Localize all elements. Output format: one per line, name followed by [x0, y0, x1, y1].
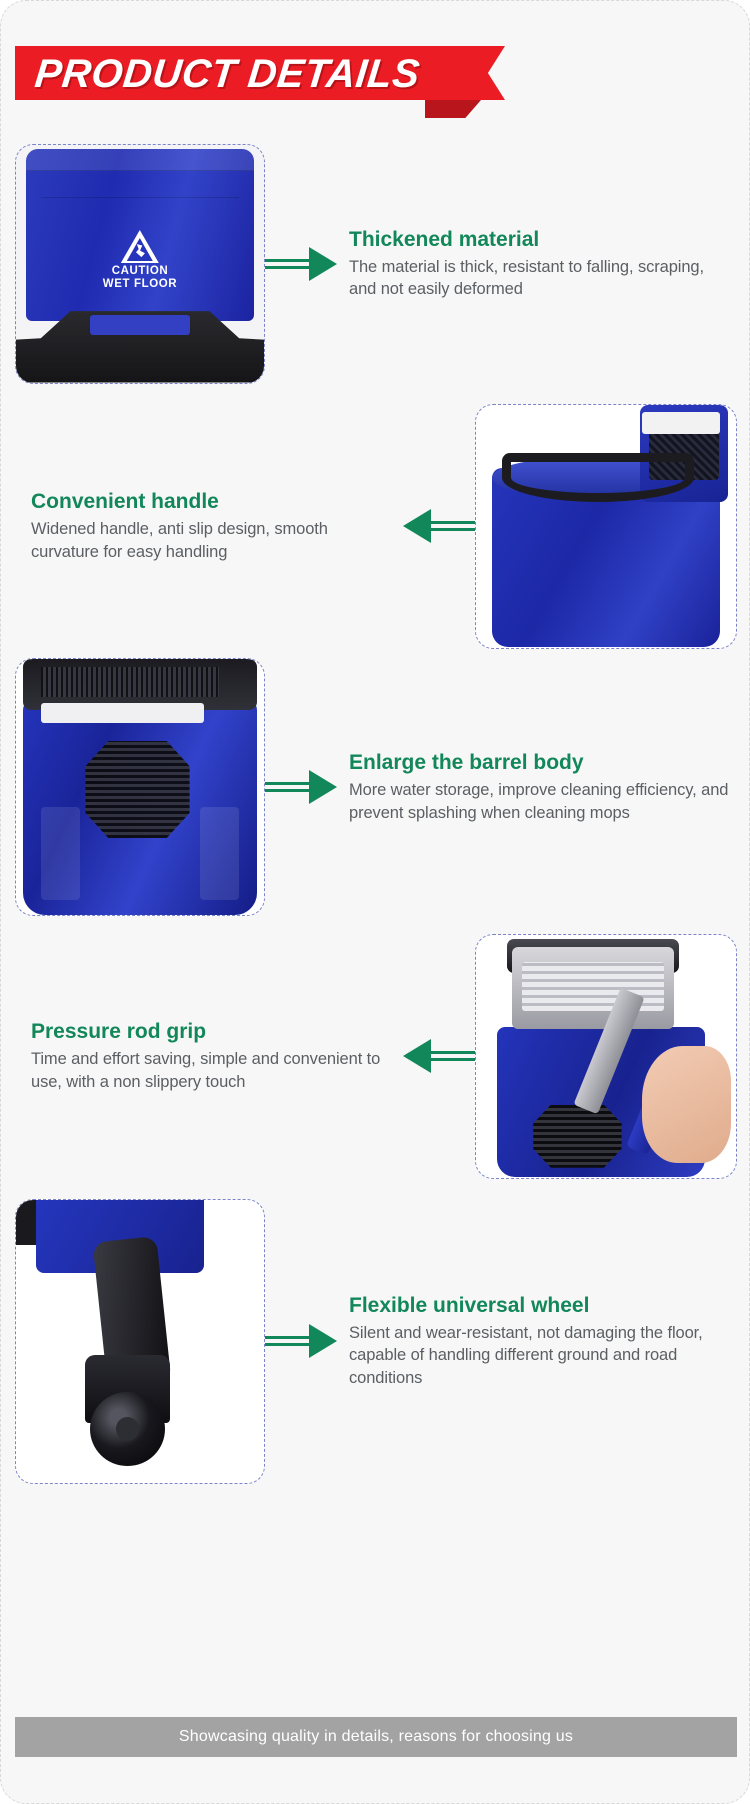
feature-row-flexible-universal-wheel: Flexible universal wheel Silent and wear…	[15, 1196, 737, 1486]
feature-image-thickened-material: CAUTION WET FLOOR	[15, 144, 265, 384]
page-title: PRODUCT DETAILS	[32, 48, 422, 102]
feature-text-thickened-material: Thickened material The material is thick…	[343, 227, 737, 301]
feature-description: The material is thick, resistant to fall…	[349, 256, 731, 301]
feature-text-pressure-rod-grip: Pressure rod grip Time and effort saving…	[15, 1019, 397, 1093]
arrow-right-icon	[265, 247, 343, 281]
feature-text-convenient-handle: Convenient handle Widened handle, anti s…	[15, 489, 397, 563]
feature-row-convenient-handle: Convenient handle Widened handle, anti s…	[15, 401, 737, 651]
feature-row-enlarge-barrel-body: Enlarge the barrel body More water stora…	[15, 656, 737, 918]
ribbon-tail	[467, 46, 505, 100]
feature-description: Time and effort saving, simple and conve…	[31, 1048, 391, 1093]
feature-description: More water storage, improve cleaning eff…	[349, 779, 731, 824]
feature-description: Silent and wear-resistant, not damaging …	[349, 1322, 731, 1389]
feature-title: Enlarge the barrel body	[349, 750, 731, 776]
header-ribbon: PRODUCT DETAILS	[1, 46, 501, 108]
feature-title: Flexible universal wheel	[349, 1293, 731, 1319]
feature-image-pressure-rod-grip	[475, 934, 737, 1179]
feature-row-thickened-material: CAUTION WET FLOOR Thickened material The…	[15, 141, 737, 386]
ribbon-fold	[425, 100, 481, 118]
feature-title: Thickened material	[349, 227, 731, 253]
feature-image-flexible-universal-wheel	[15, 1199, 265, 1484]
product-details-page: PRODUCT DETAILS CAUTION WET FLOOR Thicke…	[0, 0, 750, 1804]
feature-title: Convenient handle	[31, 489, 391, 515]
feature-description: Widened handle, anti slip design, smooth…	[31, 518, 391, 563]
feature-title: Pressure rod grip	[31, 1019, 391, 1045]
footer-text: Showcasing quality in details, reasons f…	[179, 1728, 573, 1746]
footer-banner: Showcasing quality in details, reasons f…	[15, 1717, 737, 1757]
feature-image-enlarge-barrel-body	[15, 658, 265, 916]
arrow-right-icon	[265, 1324, 343, 1358]
arrow-left-icon	[397, 1039, 475, 1073]
feature-row-pressure-rod-grip: Pressure rod grip Time and effort saving…	[15, 931, 737, 1181]
feature-text-flexible-universal-wheel: Flexible universal wheel Silent and wear…	[343, 1293, 737, 1389]
caution-label-line1: CAUTION	[103, 265, 177, 278]
arrow-left-icon	[397, 509, 475, 543]
feature-image-convenient-handle	[475, 404, 737, 649]
arrow-right-icon	[265, 770, 343, 804]
caution-label-line2: WET FLOOR	[103, 278, 177, 291]
feature-text-enlarge-barrel-body: Enlarge the barrel body More water stora…	[343, 750, 737, 824]
